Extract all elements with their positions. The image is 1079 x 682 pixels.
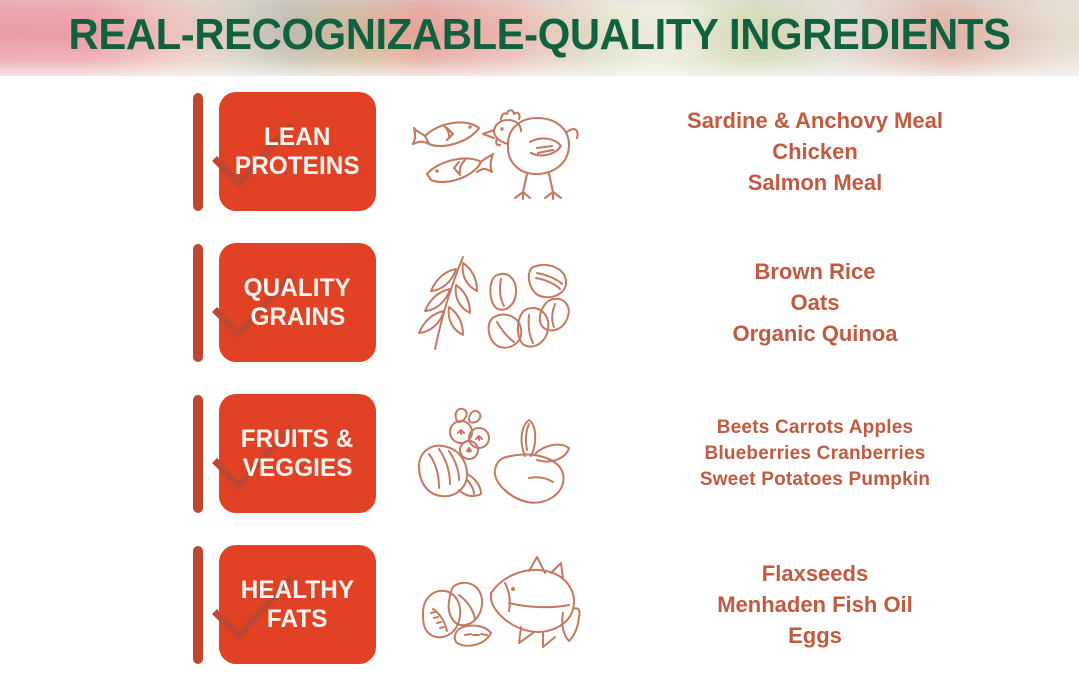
icon-cell bbox=[395, 98, 595, 206]
ingredient-row: FRUITS & VEGGIES bbox=[0, 378, 1079, 529]
page-title: REAL-RECOGNIZABLE-QUALITY INGREDIENTS bbox=[27, 9, 1052, 61]
ingredient-list: Flaxseeds Menhaden Fish Oil Eggs bbox=[595, 558, 1079, 651]
ingredient-row: LEAN PROTEINS bbox=[0, 76, 1079, 227]
checkbox-checked[interactable] bbox=[193, 395, 203, 513]
ingredient-line: Sardine & Anchovy Meal bbox=[595, 105, 1035, 136]
badge-label-line-2: VEGGIES bbox=[243, 454, 353, 483]
ingredient-list: Sardine & Anchovy Meal Chicken Salmon Me… bbox=[595, 105, 1079, 198]
badge-label-line-1: FRUITS & bbox=[241, 425, 354, 454]
ingredient-line: Chicken bbox=[595, 136, 1035, 167]
ingredient-list: Beets Carrots Apples Blueberries Cranber… bbox=[595, 415, 1079, 493]
sweet-potato-berries-beet-icon bbox=[409, 400, 581, 508]
wheat-and-grains-icon bbox=[409, 249, 581, 357]
ingredient-line: Blueberries Cranberries bbox=[595, 441, 1035, 467]
ingredient-line: Flaxseeds bbox=[595, 558, 1035, 589]
ingredient-line: Menhaden Fish Oil bbox=[595, 589, 1035, 620]
checkbox-cell bbox=[0, 244, 200, 362]
checkbox-checked[interactable] bbox=[193, 93, 203, 211]
badge-label-line-1: LEAN bbox=[264, 123, 330, 152]
ingredient-row: HEALTHY FATS bbox=[0, 529, 1079, 680]
checkbox-cell bbox=[0, 395, 200, 513]
checkbox-cell bbox=[0, 93, 200, 211]
checkbox-checked[interactable] bbox=[193, 546, 203, 664]
checkbox-checked[interactable] bbox=[193, 244, 203, 362]
badge-label-line-2: GRAINS bbox=[250, 303, 345, 332]
badge-label-line-2: PROTEINS bbox=[235, 152, 360, 181]
badge-label-line-2: FATS bbox=[267, 605, 328, 634]
ingredient-line: Beets Carrots Apples bbox=[595, 415, 1035, 441]
fish-and-chicken-icon bbox=[409, 98, 581, 206]
seeds-and-fish-icon bbox=[409, 551, 581, 659]
ingredient-row: QUALITY GRAINS bbox=[0, 227, 1079, 378]
ingredient-line: Organic Quinoa bbox=[595, 318, 1035, 349]
icon-cell bbox=[395, 249, 595, 357]
header-banner: REAL-RECOGNIZABLE-QUALITY INGREDIENTS bbox=[0, 0, 1079, 76]
badge-label-line-1: HEALTHY bbox=[241, 576, 354, 605]
checkbox-cell bbox=[0, 546, 200, 664]
ingredient-rows: LEAN PROTEINS bbox=[0, 76, 1079, 682]
icon-cell bbox=[395, 400, 595, 508]
ingredient-line: Oats bbox=[595, 287, 1035, 318]
badge-label-line-1: QUALITY bbox=[244, 274, 351, 303]
ingredient-line: Sweet Potatoes Pumpkin bbox=[595, 467, 1035, 493]
icon-cell bbox=[395, 551, 595, 659]
ingredient-list: Brown Rice Oats Organic Quinoa bbox=[595, 256, 1079, 349]
ingredient-line: Salmon Meal bbox=[595, 167, 1035, 198]
ingredient-line: Brown Rice bbox=[595, 256, 1035, 287]
ingredient-line: Eggs bbox=[595, 620, 1035, 651]
